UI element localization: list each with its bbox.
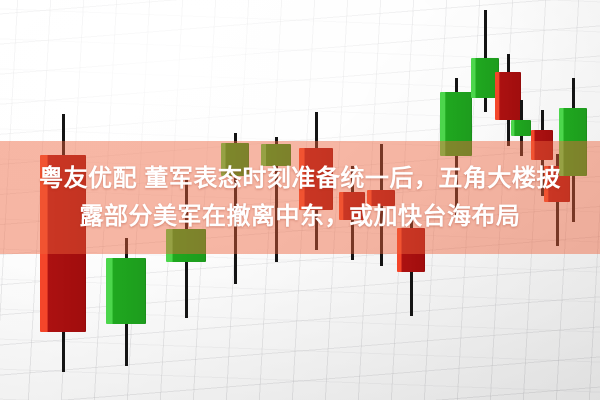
- caption-line-2: 露部分美军在撤离中东，或加快台海布局: [80, 198, 521, 236]
- candle-body-down: [495, 72, 521, 120]
- candle-body-up: [106, 258, 146, 324]
- banner-image: 粤友优配 董军表态时刻准备统一后，五角大楼披 露部分美军在撤离中东，或加快台海布…: [0, 0, 600, 400]
- caption-band: 粤友优配 董军表态时刻准备统一后，五角大楼披 露部分美军在撤离中东，或加快台海布…: [0, 141, 600, 254]
- candle-body-up: [511, 120, 531, 136]
- caption-line-1: 粤友优配 董军表态时刻准备统一后，五角大楼披: [39, 160, 561, 198]
